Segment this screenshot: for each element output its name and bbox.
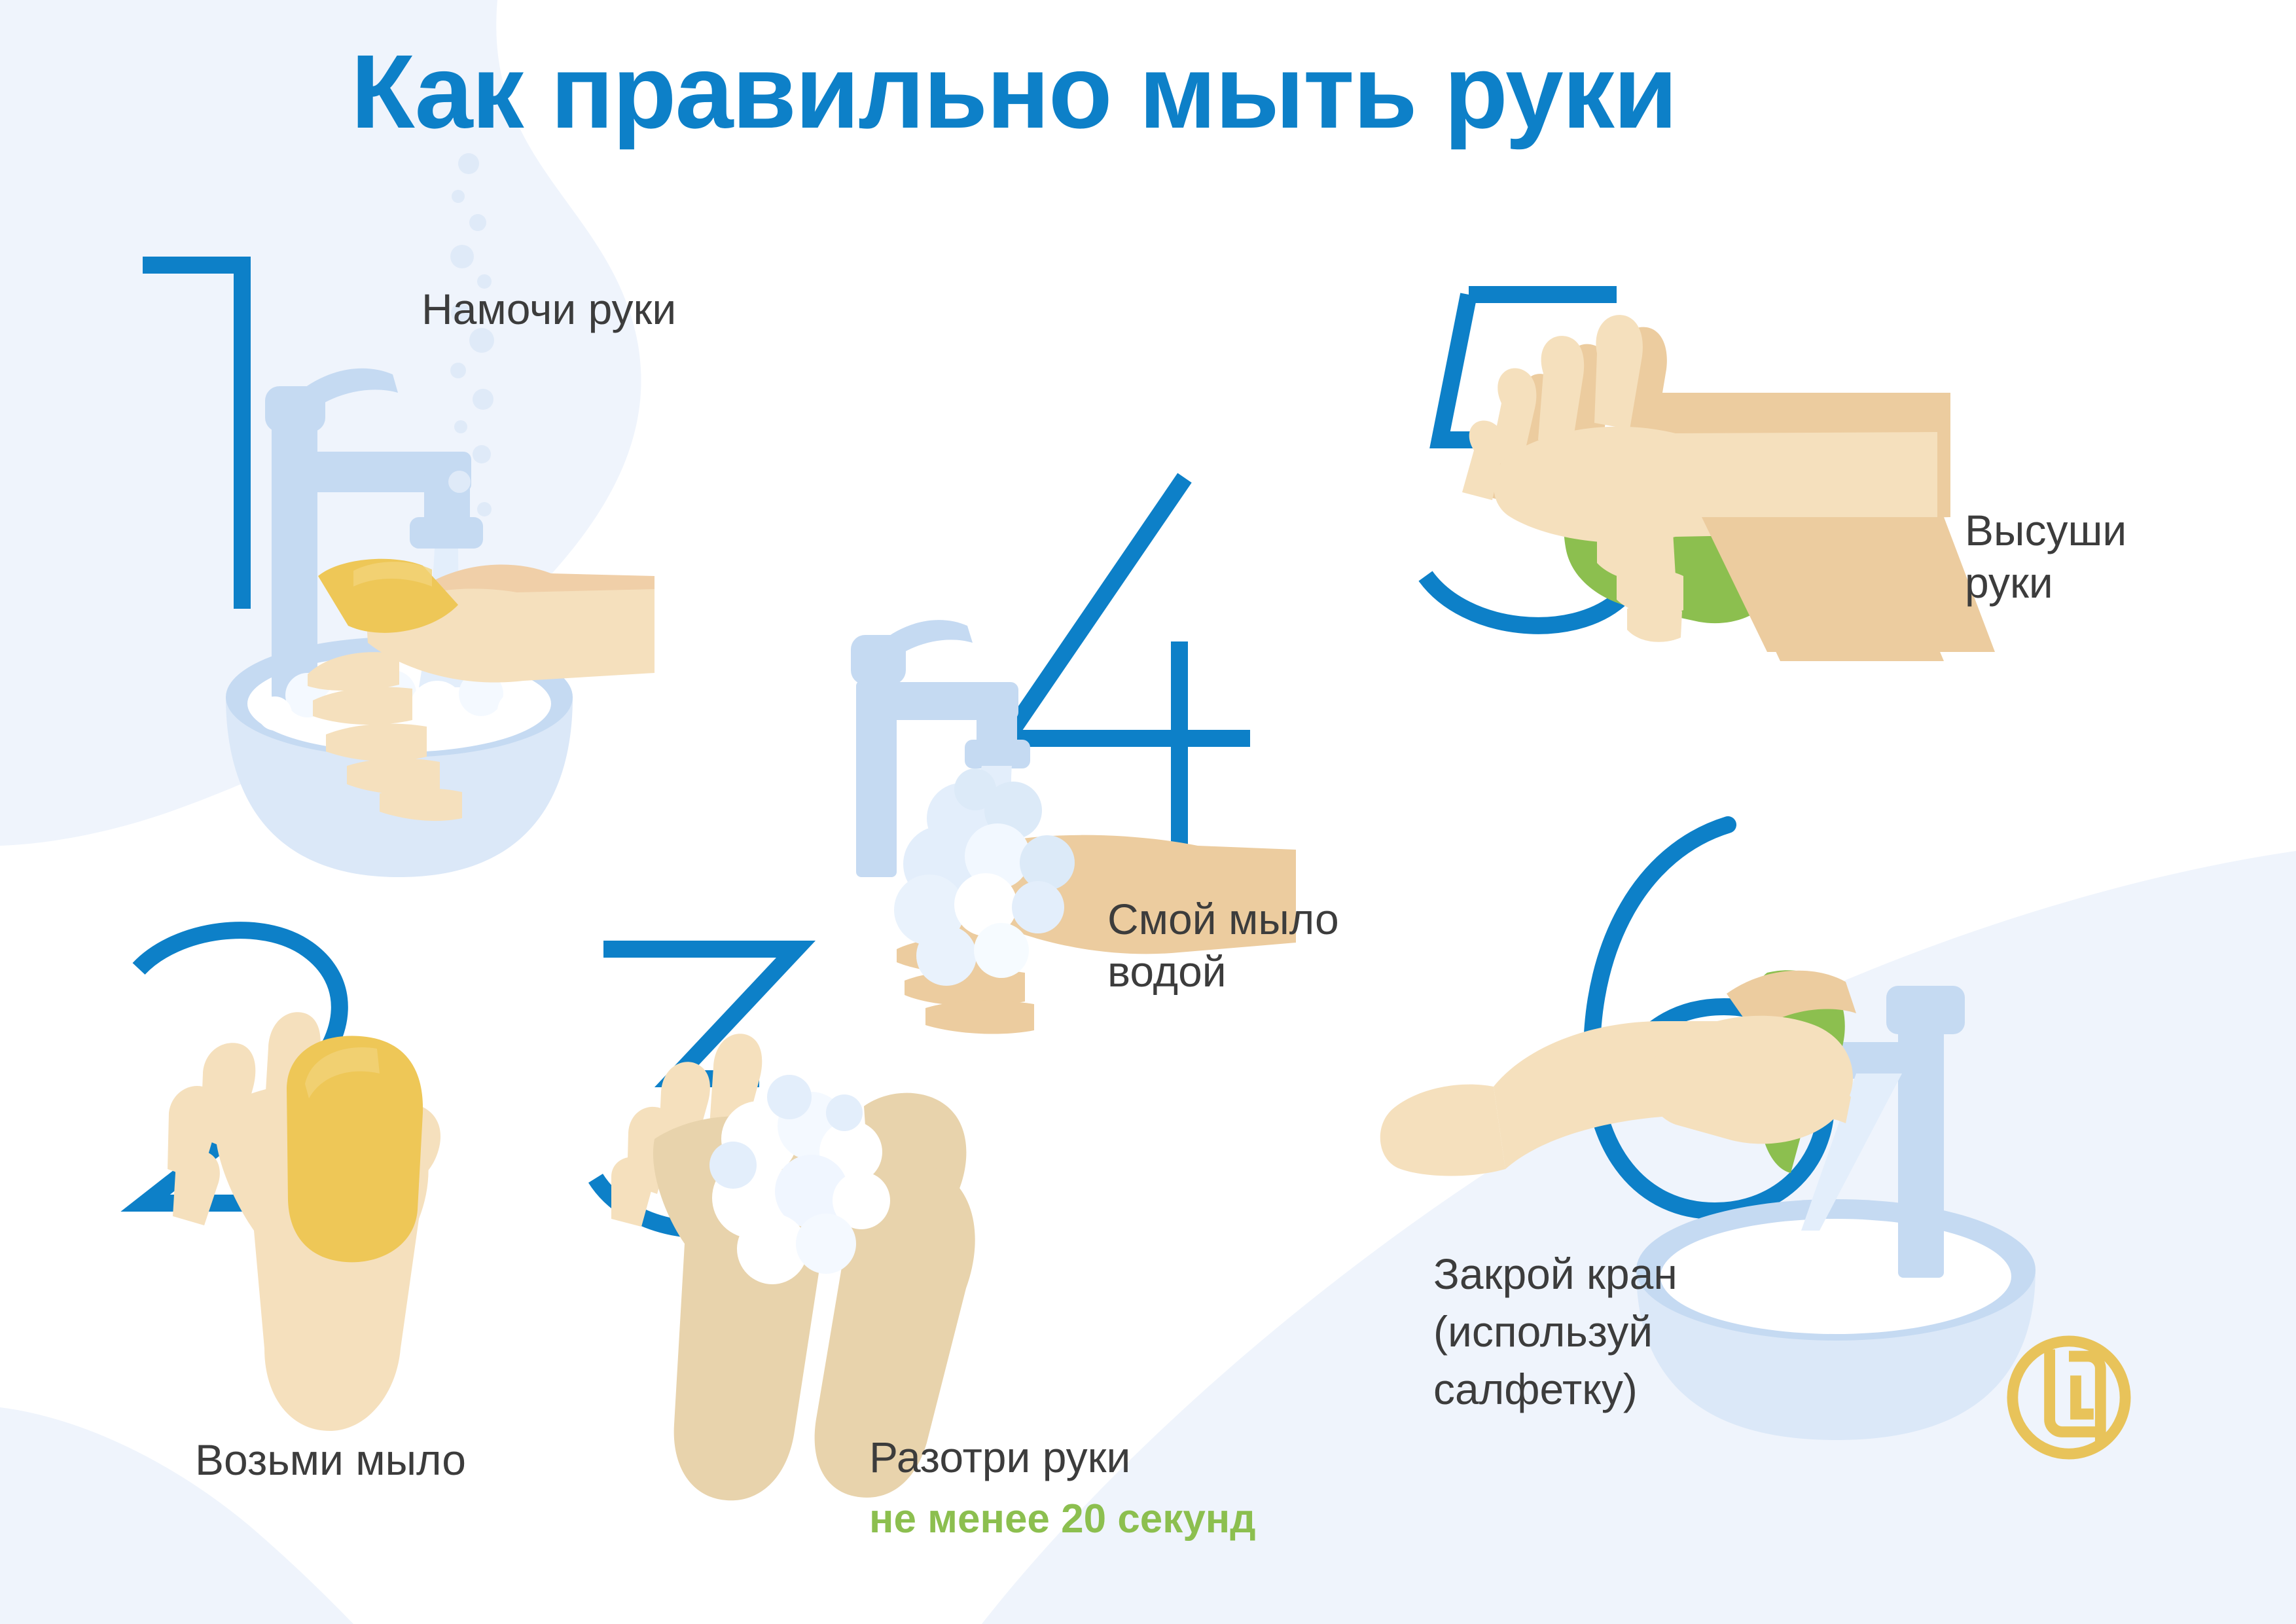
step-1-illustration	[143, 153, 655, 877]
soap-bar-2	[287, 1036, 423, 1263]
step-4-illustration	[851, 478, 1296, 1034]
step-3-sublabel: не менее 20 секунд	[869, 1495, 1256, 1543]
step-6-label-line3: салфетку)	[1433, 1364, 1638, 1415]
hands-drying-5	[1462, 315, 1995, 661]
step-4-label-line2: водой	[1107, 947, 1227, 998]
step-3-illustration	[596, 949, 975, 1500]
step-5-label-line1: Высуши	[1965, 505, 2126, 556]
circular-monogram-logo	[2000, 1329, 2138, 1466]
hands-lathering-3	[611, 1034, 975, 1500]
steps-illustrations	[0, 0, 2296, 1624]
step-5-label-line2: руки	[1965, 558, 2053, 609]
step-2-label: Возьми мыло	[195, 1435, 466, 1486]
step-number-4	[1007, 478, 1250, 864]
step-4-label-line1: Смой мыло	[1107, 894, 1339, 945]
step-6-label-line2: (используй	[1433, 1307, 1653, 1358]
step-5-illustration	[1426, 295, 1995, 661]
step-number-1	[143, 265, 242, 609]
step-1-label: Намочи руки	[422, 284, 676, 335]
poster-canvas: Как правильно мыть руки	[0, 0, 2296, 1624]
sink-basin-6	[1636, 1199, 2036, 1440]
hand-holding-soap-2	[168, 1012, 440, 1431]
step-6-label-line1: Закрой кран	[1433, 1249, 1677, 1300]
step-2-illustration	[139, 930, 440, 1431]
foam-4	[894, 768, 1075, 986]
step-3-label: Разотри руки	[869, 1432, 1130, 1483]
